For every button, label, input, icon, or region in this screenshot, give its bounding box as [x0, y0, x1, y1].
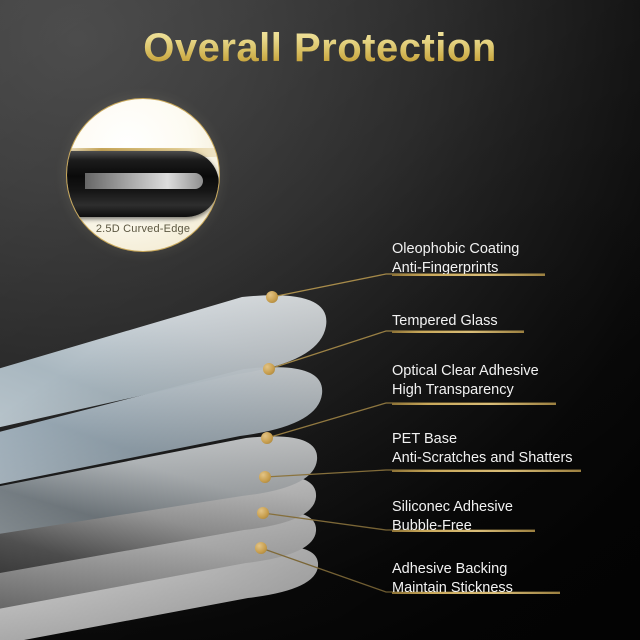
page-title: Overall Protection: [0, 26, 640, 71]
connector-dot-1[interactable]: [266, 291, 278, 303]
callout-line-1: Adhesive Backing: [392, 561, 507, 577]
screen-protector-layer-stack: [0, 0, 640, 640]
connector-dot-3[interactable]: [261, 432, 273, 444]
callout-underline-5: [392, 530, 535, 532]
callout-line-1: PET Base: [392, 431, 457, 447]
callout-line-2: Bubble-Free: [392, 517, 513, 536]
callout-line-2: High Transparency: [392, 381, 539, 400]
callout-underline-1: [392, 274, 545, 276]
callout-line-1: Oleophobic Coating: [392, 241, 519, 257]
connector-dot-2[interactable]: [263, 363, 275, 375]
product-infographic: Overall Protection 2.5D Curved-Edge Oleo…: [0, 0, 640, 640]
callout-line-1: Siliconec Adhesive: [392, 499, 513, 515]
callout-tempered-glass: Tempered Glass: [392, 312, 498, 331]
callout-underline-3: [392, 403, 556, 405]
inset-caption: 2.5D Curved-Edge: [67, 223, 219, 235]
curved-edge-inset: 2.5D Curved-Edge: [66, 98, 220, 252]
callout-optical-clear-adhesive: Optical Clear Adhesive High Transparency: [392, 362, 539, 400]
callout-line-2: Anti-Scratches and Shatters: [392, 449, 573, 468]
callout-line-2: Maintain Stickness: [392, 579, 513, 598]
callout-oleophobic-coating: Oleophobic Coating Anti-Fingerprints: [392, 240, 519, 278]
callout-line-1: Optical Clear Adhesive: [392, 363, 539, 379]
connector-dot-4[interactable]: [259, 471, 271, 483]
callout-underline-2: [392, 331, 524, 333]
callout-underline-4: [392, 470, 581, 472]
callout-line-1: Tempered Glass: [392, 313, 498, 329]
connector-dot-6[interactable]: [255, 542, 267, 554]
phone-edge-highlight-icon: [85, 173, 203, 189]
callout-underline-6: [392, 592, 560, 594]
connector-dot-5[interactable]: [257, 507, 269, 519]
callout-pet-base: PET Base Anti-Scratches and Shatters: [392, 430, 573, 468]
